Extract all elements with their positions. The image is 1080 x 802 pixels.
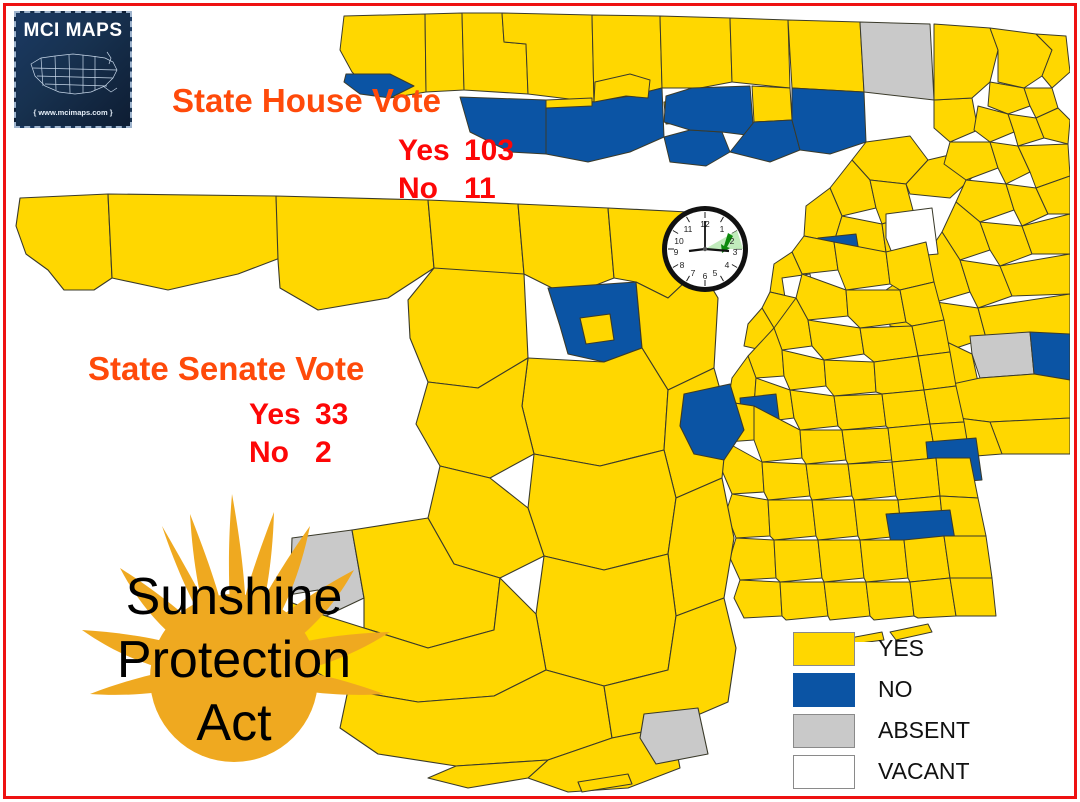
legend-label-absent: ABSENT [878, 717, 970, 744]
house-yes-value: 103 [464, 134, 514, 167]
map-legend: YES NO ABSENT VACANT [793, 628, 970, 792]
senate-yes-label: Yes [249, 398, 315, 432]
house-no-label: No [398, 172, 464, 206]
svg-text:5: 5 [713, 268, 718, 278]
legend-swatch-yes [793, 632, 855, 666]
svg-text:6: 6 [703, 271, 708, 281]
sun-burst-icon [48, 482, 420, 798]
svg-text:4: 4 [725, 260, 730, 270]
state-house-vote-title: State House Vote [172, 82, 441, 120]
svg-text:11: 11 [684, 224, 693, 234]
legend-swatch-no [793, 673, 855, 707]
legend-item-yes: YES [793, 628, 970, 669]
house-yes-label: Yes [398, 134, 464, 168]
svg-text:3: 3 [733, 247, 738, 257]
us-map-outline-icon [25, 46, 125, 100]
legend-item-no: NO [793, 669, 970, 710]
sunshine-protection-act-vote-map: MCI MAPS { www.mcimaps.com } State House… [0, 0, 1080, 802]
legend-swatch-absent [793, 714, 855, 748]
svg-text:7: 7 [691, 268, 696, 278]
logo-title: MCI MAPS [16, 20, 130, 42]
senate-yes-value: 33 [315, 398, 348, 431]
legend-item-absent: ABSENT [793, 710, 970, 751]
svg-text:10: 10 [674, 236, 684, 246]
logo-url: { www.mcimaps.com } [16, 108, 130, 117]
svg-text:1: 1 [720, 224, 725, 234]
senate-no-tally: No2 [249, 436, 332, 470]
senate-yes-tally: Yes33 [249, 398, 348, 432]
mci-maps-logo: MCI MAPS { www.mcimaps.com } [14, 11, 132, 128]
legend-item-vacant: VACANT [793, 751, 970, 792]
state-senate-vote-title: State Senate Vote [88, 350, 364, 388]
clock-spring-forward-icon: 12 1 2 3 4 5 6 7 8 9 10 11 [659, 203, 751, 295]
house-yes-tally: Yes103 [398, 134, 514, 168]
legend-swatch-vacant [793, 755, 855, 789]
senate-no-label: No [249, 436, 315, 470]
svg-text:2: 2 [730, 236, 735, 246]
senate-no-value: 2 [315, 436, 332, 469]
house-no-value: 11 [464, 172, 496, 205]
svg-text:8: 8 [680, 260, 685, 270]
legend-label-yes: YES [878, 635, 924, 662]
legend-label-vacant: VACANT [878, 758, 970, 785]
legend-label-no: NO [878, 676, 913, 703]
svg-text:9: 9 [674, 247, 679, 257]
house-no-tally: No11 [398, 172, 496, 206]
